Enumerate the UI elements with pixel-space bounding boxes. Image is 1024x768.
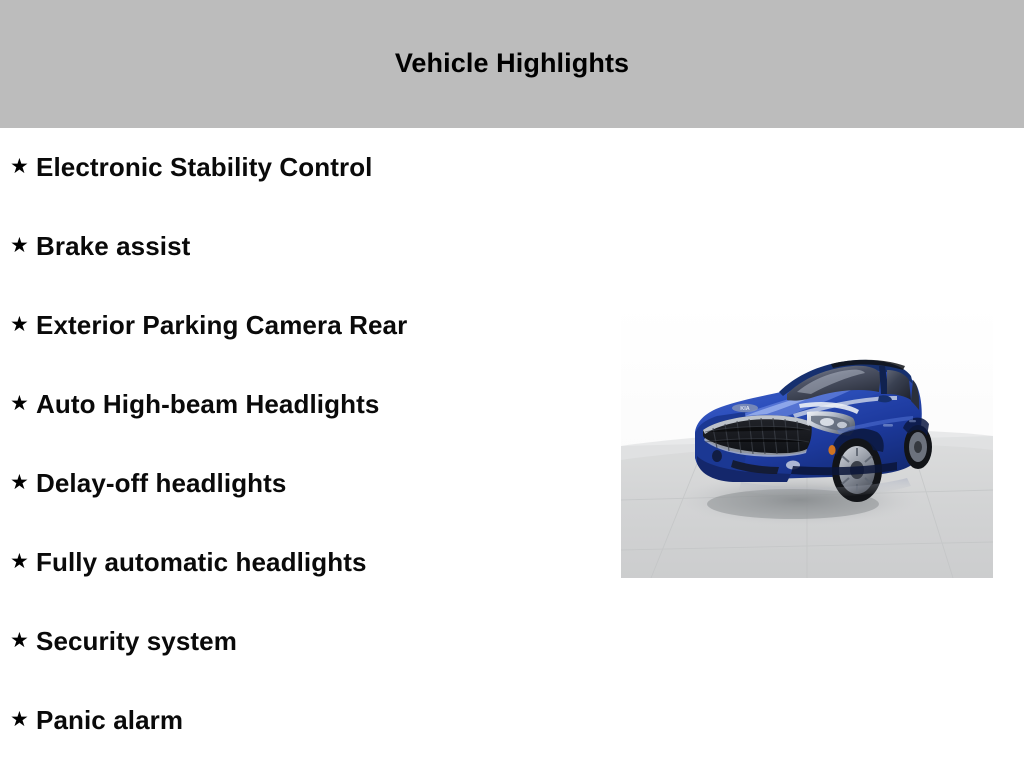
star-bullet-icon: ★ — [10, 472, 36, 493]
list-item-label: Auto High-beam Headlights — [36, 390, 610, 419]
list-item: ★ Delay-off headlights — [0, 444, 610, 523]
list-item: ★ Fully automatic headlights — [0, 523, 610, 602]
list-item-label: Panic alarm — [36, 706, 610, 735]
star-bullet-icon: ★ — [10, 630, 36, 651]
vehicle-photo: KIA — [621, 304, 993, 578]
star-bullet-icon: ★ — [10, 235, 36, 256]
vehicle-highlights-slide: Vehicle Highlights ★ Electronic Stabilit… — [0, 0, 1024, 768]
list-item-label: Fully automatic headlights — [36, 548, 610, 577]
list-item-label: Electronic Stability Control — [36, 153, 610, 182]
star-bullet-icon: ★ — [10, 156, 36, 177]
header-banner: Vehicle Highlights — [0, 0, 1024, 128]
list-item-label: Exterior Parking Camera Rear — [36, 311, 610, 340]
list-item-label: Security system — [36, 627, 610, 656]
list-item: ★ Panic alarm — [0, 681, 610, 760]
list-item: ★ Security system — [0, 602, 610, 681]
list-item-label: Brake assist — [36, 232, 610, 261]
list-item-label: Delay-off headlights — [36, 469, 610, 498]
vehicle-highlights-list: ★ Electronic Stability Control ★ Brake a… — [0, 128, 610, 760]
vehicle-photo-image: KIA — [621, 304, 993, 578]
star-bullet-icon: ★ — [10, 709, 36, 730]
list-item: ★ Auto High-beam Headlights — [0, 365, 610, 444]
star-bullet-icon: ★ — [10, 314, 36, 335]
list-item: ★ Brake assist — [0, 207, 610, 286]
star-bullet-icon: ★ — [10, 393, 36, 414]
svg-text:KIA: KIA — [740, 406, 750, 412]
page-title: Vehicle Highlights — [395, 50, 629, 77]
list-item: ★ Electronic Stability Control — [0, 128, 610, 207]
star-bullet-icon: ★ — [10, 551, 36, 572]
list-item: ★ Exterior Parking Camera Rear — [0, 286, 610, 365]
